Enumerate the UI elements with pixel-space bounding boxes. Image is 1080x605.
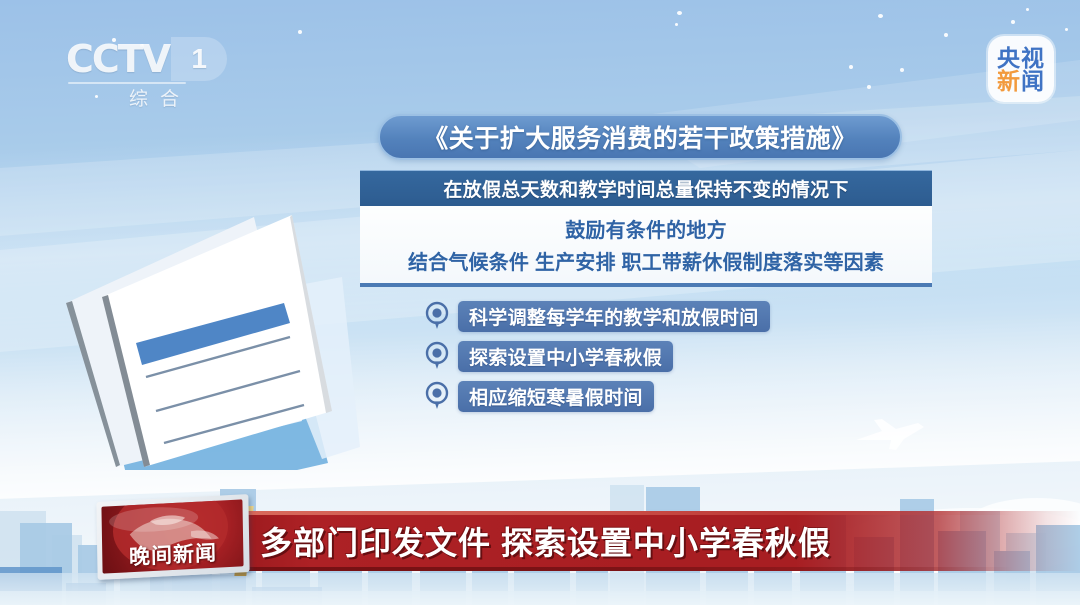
- news-logo-line-2: 新 闻: [997, 70, 1045, 93]
- condition-header-text: 在放假总天数和教学时间总量保持不变的情况下: [443, 175, 848, 202]
- bottom-haze-strip: [0, 573, 1080, 605]
- star-speck: [1026, 8, 1029, 11]
- bullet-pill: 相应缩短寒暑假时间: [458, 381, 654, 412]
- target-pin-icon: [424, 381, 450, 411]
- news-logo-line-1: 央视: [997, 47, 1045, 70]
- star-speck: [675, 23, 678, 26]
- condition-detail-panel: 鼓励有条件的地方 结合气候条件 生产安排 职工带薪休假制度落实等因素: [360, 206, 932, 287]
- cctv-channel-subtitle: 综合: [66, 84, 242, 111]
- cctv-channel-logo: CCTV 1 综合: [66, 36, 242, 114]
- star-speck: [677, 11, 682, 15]
- condition-detail-line-1: 鼓励有条件的地方: [565, 214, 727, 243]
- condition-detail-line-2: 结合气候条件 生产安排 职工带薪休假制度落实等因素: [408, 246, 884, 275]
- cctv-news-logo: 央视 新 闻: [988, 36, 1054, 102]
- policy-title-pill: 《关于扩大服务消费的若干政策措施》: [378, 114, 902, 160]
- bullet-pill: 科学调整每学年的教学和放假时间: [458, 301, 770, 332]
- star-speck: [849, 65, 853, 69]
- bullet-item: 科学调整每学年的教学和放假时间: [424, 300, 894, 332]
- star-speck: [1011, 20, 1015, 24]
- cctv-logo-row: CCTV 1: [66, 36, 242, 82]
- headline-banner: 多部门印发文件 探索设置中小学春秋假: [245, 511, 1080, 571]
- cctv-logo-underline: [68, 82, 186, 84]
- news-logo-text-news: 闻: [1021, 70, 1045, 93]
- target-pin-icon: [424, 301, 450, 331]
- star-speck: [878, 14, 883, 18]
- program-logo: 晚间新闻: [97, 498, 249, 576]
- cctv-wordmark: CCTV: [66, 37, 169, 81]
- star-speck: [112, 38, 116, 42]
- broadcast-frame: CCTV 1 综合 央视 新 闻: [0, 0, 1080, 605]
- star-speck: [867, 85, 871, 89]
- star-speck: [944, 33, 948, 37]
- policy-title-text: 《关于扩大服务消费的若干政策措施》: [423, 119, 857, 155]
- bullet-pill: 探索设置中小学春秋假: [458, 341, 673, 372]
- star-speck: [1065, 28, 1068, 31]
- star-speck: [900, 68, 904, 72]
- target-pin-icon: [424, 341, 450, 371]
- cctv-channel-number: 1: [171, 37, 227, 81]
- measure-bullet-list: 科学调整每学年的教学和放假时间 探索设置中小学春秋假 相应缩短寒暑假时间: [424, 300, 894, 420]
- bullet-text: 相应缩短寒暑假时间: [469, 383, 643, 410]
- star-speck: [95, 95, 98, 98]
- bullet-item: 探索设置中小学春秋假: [424, 340, 894, 372]
- news-logo-text-top: 央视: [997, 47, 1045, 70]
- document-illustration: [60, 215, 360, 470]
- bullet-text: 探索设置中小学春秋假: [469, 343, 662, 370]
- cloud-cluster: [745, 420, 1080, 600]
- condition-header-bar: 在放假总天数和教学时间总量保持不变的情况下: [360, 170, 932, 206]
- headline-text: 多部门印发文件 探索设置中小学春秋假: [260, 518, 831, 564]
- bullet-text: 科学调整每学年的教学和放假时间: [469, 303, 759, 330]
- airplane-icon: [852, 418, 928, 452]
- star-speck: [298, 30, 302, 34]
- bullet-item: 相应缩短寒暑假时间: [424, 380, 894, 412]
- news-logo-text-new: 新: [997, 70, 1021, 93]
- star-speck: [140, 44, 143, 47]
